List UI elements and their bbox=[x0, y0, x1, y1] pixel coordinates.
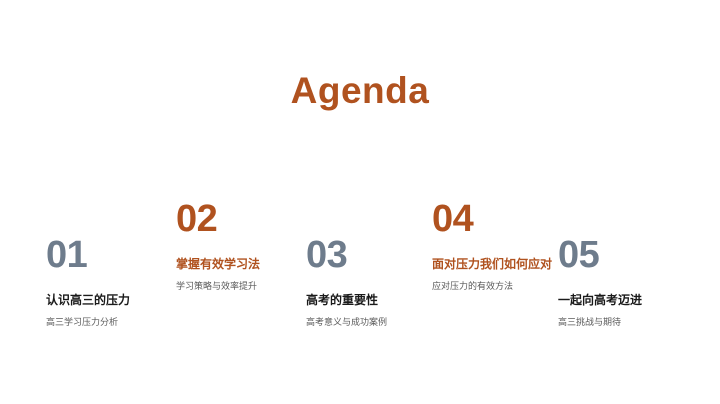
agenda-item-subtitle: 学习策略与效率提升 bbox=[176, 282, 326, 292]
agenda-item-subtitle: 高考意义与成功案例 bbox=[306, 318, 456, 328]
agenda-item-title: 一起向高考迈进 bbox=[558, 294, 708, 307]
agenda-item-subtitle: 高三挑战与期待 bbox=[558, 318, 708, 328]
agenda-item-number: 01 bbox=[46, 236, 196, 274]
agenda-item-number: 05 bbox=[558, 236, 708, 274]
agenda-slide: Agenda 01 认识高三的压力 高三学习压力分析 02 掌握有效学习法 学习… bbox=[0, 0, 720, 404]
agenda-item-01[interactable]: 01 认识高三的压力 高三学习压力分析 bbox=[46, 236, 196, 328]
agenda-item-subtitle: 高三学习压力分析 bbox=[46, 318, 196, 328]
agenda-item-title: 高考的重要性 bbox=[306, 294, 456, 307]
agenda-item-02[interactable]: 02 掌握有效学习法 学习策略与效率提升 bbox=[176, 200, 326, 292]
agenda-item-number: 02 bbox=[176, 200, 326, 238]
agenda-item-05[interactable]: 05 一起向高考迈进 高三挑战与期待 bbox=[558, 236, 708, 328]
agenda-item-title: 认识高三的压力 bbox=[46, 294, 196, 307]
agenda-item-number: 04 bbox=[432, 200, 582, 238]
agenda-item-title: 掌握有效学习法 bbox=[176, 258, 326, 271]
page-title: Agenda bbox=[0, 72, 720, 111]
